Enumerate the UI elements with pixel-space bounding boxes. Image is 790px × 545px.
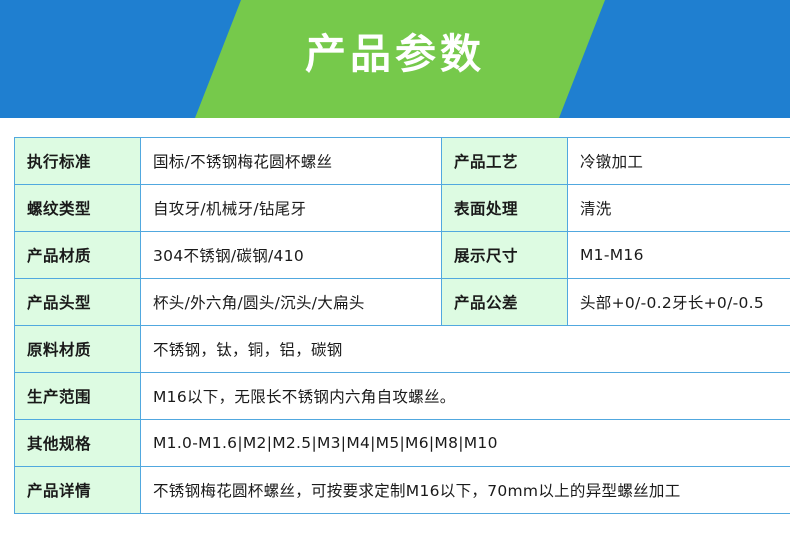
row-value-secondary: 清洗 (568, 185, 790, 232)
row-value: 杯头/外六角/圆头/沉头/大扁头 (141, 279, 442, 326)
row-label-secondary: 展示尺寸 (442, 232, 568, 279)
table-row: 其他规格 M1.0-M1.6|M2|M2.5|M3|M4|M5|M6|M8|M1… (15, 420, 790, 467)
row-value-secondary: 头部+0/-0.2牙长+0/-0.5 (568, 279, 790, 326)
table-row: 执行标准 国标/不锈钢梅花圆杯螺丝 产品工艺 冷镦加工 (15, 138, 790, 185)
table-row: 产品材质 304不锈钢/碳钢/410 展示尺寸 M1-M16 (15, 232, 790, 279)
row-label: 其他规格 (15, 420, 141, 467)
row-value: 不锈钢梅花圆杯螺丝，可按要求定制M16以下，70mm以上的异型螺丝加工 (141, 467, 790, 514)
row-value: M16以下，无限长不锈钢内六角自攻螺丝。 (141, 373, 790, 420)
row-value: 自攻牙/机械牙/钻尾牙 (141, 185, 442, 232)
row-label: 执行标准 (15, 138, 141, 185)
spec-table-wrapper: 执行标准 国标/不锈钢梅花圆杯螺丝 产品工艺 冷镦加工 螺纹类型 自攻牙/机械牙… (14, 137, 776, 514)
row-label: 产品头型 (15, 279, 141, 326)
row-label: 螺纹类型 (15, 185, 141, 232)
row-label-secondary: 产品工艺 (442, 138, 568, 185)
product-spec-page: 产品参数 执行标准 国标/不锈钢梅花圆杯螺丝 产品工艺 冷镦加工 螺纹类型 自攻… (0, 0, 790, 545)
page-title: 产品参数 (0, 0, 790, 118)
spec-table-body: 执行标准 国标/不锈钢梅花圆杯螺丝 产品工艺 冷镦加工 螺纹类型 自攻牙/机械牙… (15, 138, 790, 514)
row-value: 不锈钢，钛，铜，铝，碳钢 (141, 326, 790, 373)
row-label: 原料材质 (15, 326, 141, 373)
row-value: 304不锈钢/碳钢/410 (141, 232, 442, 279)
row-value: M1.0-M1.6|M2|M2.5|M3|M4|M5|M6|M8|M10 (141, 420, 790, 467)
table-row: 原料材质 不锈钢，钛，铜，铝，碳钢 (15, 326, 790, 373)
table-row: 产品头型 杯头/外六角/圆头/沉头/大扁头 产品公差 头部+0/-0.2牙长+0… (15, 279, 790, 326)
header-banner: 产品参数 (0, 0, 790, 118)
row-label-secondary: 产品公差 (442, 279, 568, 326)
row-value: 国标/不锈钢梅花圆杯螺丝 (141, 138, 442, 185)
row-label: 产品详情 (15, 467, 141, 514)
table-row: 螺纹类型 自攻牙/机械牙/钻尾牙 表面处理 清洗 (15, 185, 790, 232)
row-label: 生产范围 (15, 373, 141, 420)
table-row: 生产范围 M16以下，无限长不锈钢内六角自攻螺丝。 (15, 373, 790, 420)
row-label-secondary: 表面处理 (442, 185, 568, 232)
row-value-secondary: 冷镦加工 (568, 138, 790, 185)
row-value-secondary: M1-M16 (568, 232, 790, 279)
table-row: 产品详情 不锈钢梅花圆杯螺丝，可按要求定制M16以下，70mm以上的异型螺丝加工 (15, 467, 790, 514)
spec-table: 执行标准 国标/不锈钢梅花圆杯螺丝 产品工艺 冷镦加工 螺纹类型 自攻牙/机械牙… (14, 137, 790, 514)
row-label: 产品材质 (15, 232, 141, 279)
